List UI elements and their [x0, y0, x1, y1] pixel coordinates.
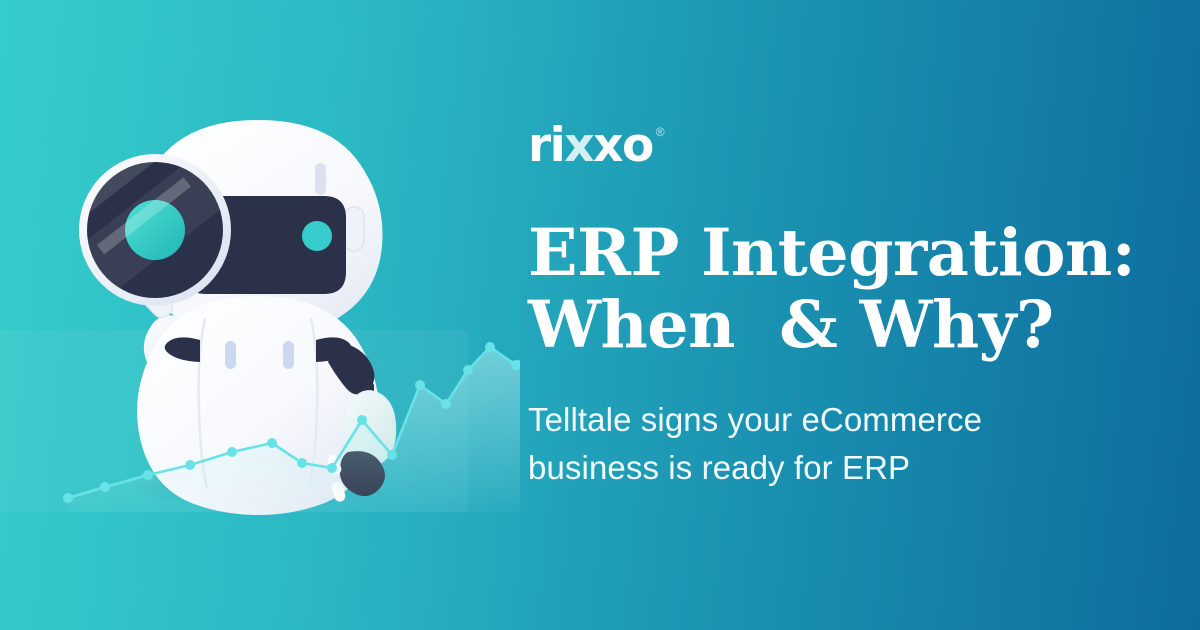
body-indicator-right	[283, 341, 294, 369]
page-title: ERP Integration: When & Why?	[528, 218, 1128, 361]
head-slot	[315, 163, 326, 195]
headline-line-2: When & Why?	[528, 290, 1128, 362]
brand-logo[interactable]: rixxo ®	[528, 122, 665, 169]
body-indicator-left	[225, 341, 236, 369]
head-ear-tab	[344, 207, 364, 251]
robot-illustration	[0, 0, 520, 630]
logo-part-x: x	[564, 118, 593, 173]
registered-trademark-icon: ®	[656, 126, 665, 138]
logo-part-2: xo	[593, 118, 653, 173]
content-column: rixxo ® ERP Integration: When & Why? Tel…	[528, 0, 1128, 630]
page-subtitle: Telltale signs your eCommerce business i…	[528, 396, 1128, 492]
logo-part-1: ri	[528, 118, 564, 173]
headline-line-1: ERP Integration:	[528, 218, 1128, 290]
subhead-line-1: Telltale signs your eCommerce	[528, 396, 1128, 444]
subhead-line-2: business is ready for ERP	[528, 444, 1128, 492]
promo-banner: rixxo ® ERP Integration: When & Why? Tel…	[0, 0, 1200, 630]
brand-logo-text: rixxo	[528, 122, 653, 169]
robot-eye	[302, 221, 332, 251]
